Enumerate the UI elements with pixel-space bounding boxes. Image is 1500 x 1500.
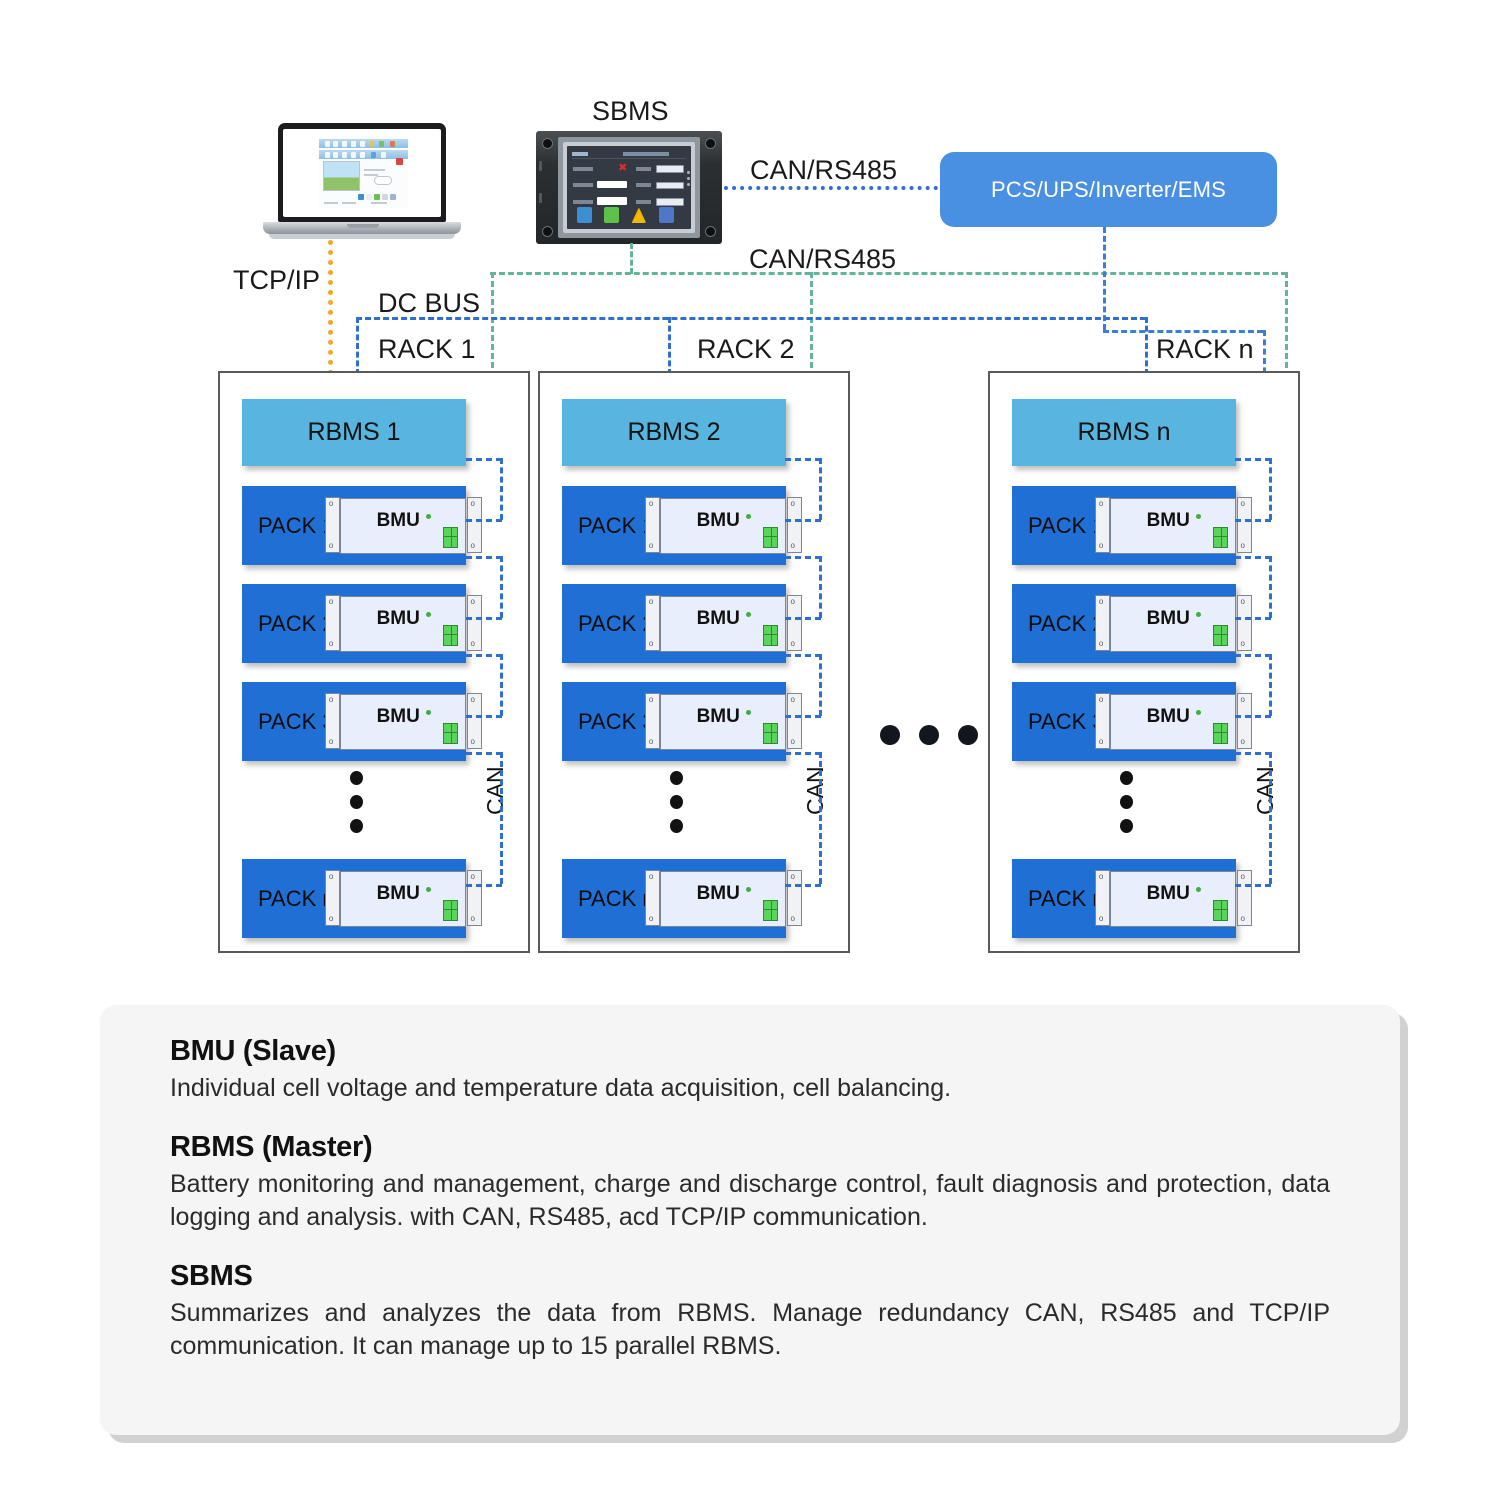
bmu-status-led-icon bbox=[1196, 710, 1201, 715]
bmu-label: BMU bbox=[1147, 608, 1190, 630]
bmu-status-led-icon bbox=[746, 710, 751, 715]
mini-record-dot bbox=[396, 158, 403, 165]
rack2-can-to-packn bbox=[785, 884, 821, 887]
can-rs485-label-top: CAN/RS485 bbox=[750, 155, 897, 186]
sbms-screen[interactable]: ✖ bbox=[567, 146, 691, 229]
bmu-connector-icon bbox=[763, 527, 778, 548]
rack2-pack-ellipsis bbox=[670, 771, 684, 843]
dc-bus-rack1-drop bbox=[356, 317, 359, 375]
dc-bus-rackn-drop2 bbox=[1145, 317, 1148, 375]
bmu-status-led-icon bbox=[1196, 887, 1201, 892]
rack2-can-pack3-out bbox=[785, 752, 821, 755]
bmu-label: BMU bbox=[1147, 706, 1190, 728]
rackn-can-pack1-out bbox=[1235, 556, 1271, 559]
rack1-pack-n[interactable]: PACK n oo oo BMU bbox=[242, 859, 466, 938]
rack2-can-seg-b bbox=[819, 556, 822, 618]
bmu-label: BMU bbox=[1147, 510, 1190, 532]
rack1-pack-2[interactable]: PACK 2 oo oo BMU bbox=[242, 584, 466, 663]
monitoring-software-screenshot bbox=[319, 136, 407, 208]
rackn-pack-ellipsis bbox=[1120, 771, 1134, 843]
bmu-connector-icon bbox=[763, 723, 778, 744]
rack2-pack-n[interactable]: PACK n oo oo BMU bbox=[562, 859, 786, 938]
rackn-can-pack3-out bbox=[1235, 752, 1271, 755]
mini-preview-image bbox=[323, 161, 360, 192]
rack1-pack-ellipsis bbox=[350, 771, 364, 843]
rack1-can-to-packn bbox=[466, 884, 502, 887]
laptop-lid bbox=[278, 123, 446, 222]
mini-button bbox=[374, 176, 392, 184]
sbms-inner-frame: ✖ bbox=[558, 137, 700, 238]
bmu-section-heading: BMU (Slave) bbox=[170, 1035, 1330, 1068]
rack1-can-seg-b bbox=[500, 556, 503, 618]
rbms-n-module[interactable]: RBMS n bbox=[1012, 399, 1236, 466]
sbms-section-body: Summarizes and analyzes the data from RB… bbox=[170, 1297, 1330, 1363]
rack2-can-to-pack1 bbox=[785, 519, 821, 522]
bmu-module[interactable]: oo oo BMU bbox=[1110, 871, 1236, 927]
rack2-can-to-pack2 bbox=[785, 617, 821, 620]
sbms-section-heading: SBMS bbox=[170, 1260, 1330, 1293]
bmu-status-led-icon bbox=[426, 887, 431, 892]
rack1-can-to-pack2 bbox=[466, 617, 502, 620]
rackn-can-rbms-out bbox=[1235, 458, 1271, 461]
bmu-connector-icon bbox=[443, 900, 458, 921]
rack2-can-pack1-out bbox=[785, 556, 821, 559]
rackn-pack-3[interactable]: PACK 3 oo oo BMU bbox=[1012, 682, 1236, 761]
link-tcpip-laptop-to-rack bbox=[328, 240, 333, 375]
bmu-label: BMU bbox=[697, 608, 740, 630]
battery-icon bbox=[604, 207, 619, 223]
bmu-status-led-icon bbox=[746, 514, 751, 519]
laptop-screen bbox=[283, 129, 441, 217]
bmu-module[interactable]: oo oo BMU bbox=[660, 596, 786, 652]
bmu-module[interactable]: oo oo BMU bbox=[1110, 498, 1236, 554]
rack2-can-seg-d bbox=[819, 752, 822, 884]
rackn-pack-2[interactable]: PACK 2 oo oo BMU bbox=[1012, 584, 1236, 663]
rack1-can-rbms-out bbox=[466, 458, 502, 461]
rack1-can-pack2-out bbox=[466, 654, 502, 657]
rackn-can-label: CAN bbox=[1252, 766, 1279, 815]
bmu-connector-icon bbox=[1213, 900, 1228, 921]
rack2-pack-3[interactable]: PACK 3 oo oo BMU bbox=[562, 682, 786, 761]
dc-bus-horizontal bbox=[356, 317, 1146, 320]
rackn-can-seg-b bbox=[1269, 556, 1272, 618]
bmu-label: BMU bbox=[697, 883, 740, 905]
rbms-section-body: Battery monitoring and management, charg… bbox=[170, 1168, 1330, 1234]
rack1-can-pack1-out bbox=[466, 556, 502, 559]
bmu-connector-icon bbox=[763, 625, 778, 646]
pcs-ups-inverter-ems-box[interactable]: PCS/UPS/Inverter/EMS bbox=[940, 152, 1277, 227]
rackn-can-pack2-out bbox=[1235, 654, 1271, 657]
rack1-can-seg-d bbox=[500, 752, 503, 884]
rack2-pack-1[interactable]: PACK 1 oo oo BMU bbox=[562, 486, 786, 565]
bmu-module[interactable]: oo oo BMU bbox=[660, 694, 786, 750]
bmu-status-led-icon bbox=[1196, 612, 1201, 617]
bmu-connector-icon bbox=[1213, 527, 1228, 548]
dc-bus-label: DC BUS bbox=[378, 288, 480, 319]
rack2-can-seg-c bbox=[819, 654, 822, 716]
bmu-module[interactable]: oo oo BMU bbox=[340, 596, 466, 652]
bmu-module[interactable]: oo oo BMU bbox=[340, 871, 466, 927]
rack1-can-seg-a bbox=[500, 458, 503, 520]
rack-n-title: RACK n bbox=[1156, 334, 1254, 365]
sbms-device-label: SBMS bbox=[592, 96, 669, 127]
bmu-connector-icon bbox=[1213, 625, 1228, 646]
racks-ellipsis bbox=[880, 725, 978, 745]
bmu-status-led-icon bbox=[1196, 514, 1201, 519]
bmu-module[interactable]: oo oo BMU bbox=[340, 694, 466, 750]
tools-icon bbox=[659, 207, 674, 223]
link-sbms-to-pcs bbox=[724, 186, 938, 190]
mini-toolbar-top bbox=[319, 139, 407, 148]
rbms-2-module[interactable]: RBMS 2 bbox=[562, 399, 786, 466]
laptop-trackpad-notch bbox=[347, 224, 379, 228]
rack2-can-pack2-out bbox=[785, 654, 821, 657]
rack1-can-to-pack1 bbox=[466, 519, 502, 522]
mini-icon-row bbox=[358, 194, 396, 200]
rackn-can-to-packn bbox=[1235, 884, 1271, 887]
bmu-connector-icon bbox=[443, 527, 458, 548]
rackn-can-to-pack3 bbox=[1235, 715, 1271, 718]
rbms-1-module[interactable]: RBMS 1 bbox=[242, 399, 466, 466]
rack1-can-to-pack3 bbox=[466, 715, 502, 718]
laptop-monitoring-pc[interactable] bbox=[263, 123, 463, 245]
rack2-can-rbms-out bbox=[785, 458, 821, 461]
can-rs485-bus-horizontal bbox=[490, 272, 1287, 275]
bmu-status-led-icon bbox=[426, 514, 431, 519]
bmu-module[interactable]: oo oo BMU bbox=[660, 871, 786, 927]
bmu-module[interactable]: oo oo BMU bbox=[340, 498, 466, 554]
legend-info-panel: BMU (Slave) Individual cell voltage and … bbox=[100, 1005, 1400, 1435]
link-pcs-down bbox=[1103, 227, 1106, 330]
bmu-connector-icon bbox=[443, 625, 458, 646]
dc-bus-rack2-drop bbox=[668, 317, 671, 375]
bmu-status-led-icon bbox=[746, 887, 751, 892]
link-sbms-down bbox=[630, 243, 633, 274]
rack-1-title: RACK 1 bbox=[378, 334, 476, 365]
rackn-pack-1[interactable]: PACK 1 oo oo BMU bbox=[1012, 486, 1236, 565]
can-rs485-label-bus: CAN/RS485 bbox=[749, 244, 896, 275]
rack1-pack-1[interactable]: PACK 1 oo oo BMU bbox=[242, 486, 466, 565]
bmu-connector-icon bbox=[763, 900, 778, 921]
bmu-label: BMU bbox=[1147, 883, 1190, 905]
monitor-icon bbox=[577, 207, 592, 223]
rackn-can-seg-a bbox=[1269, 458, 1272, 520]
bmu-label: BMU bbox=[377, 706, 420, 728]
rackn-can-seg-c bbox=[1269, 654, 1272, 716]
tcpip-label: TCP/IP bbox=[233, 265, 320, 296]
rack1-can-label: CAN bbox=[482, 766, 509, 815]
mini-toolbar-second bbox=[319, 150, 407, 159]
bmu-label: BMU bbox=[697, 706, 740, 728]
rack1-can-pack3-out bbox=[466, 752, 502, 755]
bmu-section-body: Individual cell voltage and temperature … bbox=[170, 1072, 1330, 1105]
rbms-section-heading: RBMS (Master) bbox=[170, 1131, 1330, 1164]
bmu-module[interactable]: oo oo BMU bbox=[1110, 596, 1236, 652]
sbms-hmi-panel[interactable]: ✖ bbox=[536, 131, 722, 244]
rack1-pack-3[interactable]: PACK 3 oo oo BMU bbox=[242, 682, 466, 761]
alarm-x-icon: ✖ bbox=[614, 163, 631, 175]
bmu-label: BMU bbox=[697, 510, 740, 532]
bmu-connector-icon bbox=[443, 723, 458, 744]
rackn-can-seg-d bbox=[1269, 752, 1272, 884]
rack2-can-seg-a bbox=[819, 458, 822, 520]
bmu-module[interactable]: oo oo BMU bbox=[660, 498, 786, 554]
rack-2-title: RACK 2 bbox=[697, 334, 795, 365]
rack2-can-to-pack3 bbox=[785, 715, 821, 718]
bmu-label: BMU bbox=[377, 883, 420, 905]
bmu-status-led-icon bbox=[746, 612, 751, 617]
dc-bus-right-segment bbox=[1103, 330, 1263, 333]
bmu-label: BMU bbox=[377, 510, 420, 532]
rackn-pack-n[interactable]: PACK n oo oo BMU bbox=[1012, 859, 1236, 938]
bmu-label: BMU bbox=[377, 608, 420, 630]
bmu-connector-icon bbox=[1213, 723, 1228, 744]
laptop-foot bbox=[269, 234, 455, 239]
rack1-can-seg-c bbox=[500, 654, 503, 716]
bmu-status-led-icon bbox=[426, 612, 431, 617]
rackn-can-to-pack2 bbox=[1235, 617, 1271, 620]
rackn-can-to-pack1 bbox=[1235, 519, 1271, 522]
warning-triangle-icon bbox=[631, 207, 646, 223]
bmu-status-led-icon bbox=[426, 710, 431, 715]
bmu-module[interactable]: oo oo BMU bbox=[1110, 694, 1236, 750]
rack2-pack-2[interactable]: PACK 2 oo oo BMU bbox=[562, 584, 786, 663]
rack2-can-label: CAN bbox=[802, 766, 829, 815]
